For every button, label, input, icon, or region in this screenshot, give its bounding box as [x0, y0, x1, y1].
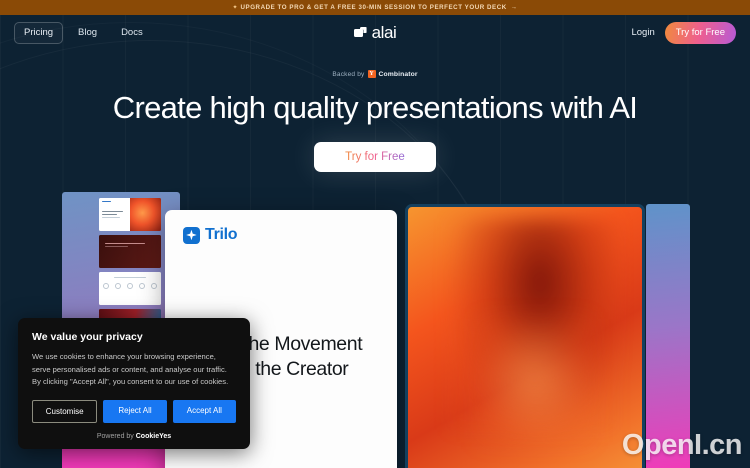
sparkle-icon: ✦ [232, 4, 237, 11]
cookie-button-row: Customise Reject All Accept All [32, 400, 236, 423]
thumbnail-dark-red-text[interactable] [99, 235, 161, 268]
hero-cta-label: Try for Free [345, 151, 405, 163]
page-title: Create high quality presentations with A… [0, 91, 750, 126]
cookie-dialog-title: We value your privacy [32, 331, 236, 343]
promo-banner[interactable]: ✦ UPGRADE TO PRO & GET A FREE 30-MIN SES… [0, 0, 750, 15]
ycombinator-label: Combinator [379, 71, 418, 78]
reject-all-button[interactable]: Reject All [103, 400, 166, 423]
cookie-dialog-body: We use cookies to enhance your browsing … [32, 351, 236, 389]
trilo-shield-star-icon [183, 227, 200, 244]
page-root: ✦ UPGRADE TO PRO & GET A FREE 30-MIN SES… [0, 0, 750, 468]
top-navbar: Pricing Blog Docs alai Login Try for Fre… [0, 15, 750, 50]
gradient-panel-left-bottom [62, 446, 180, 468]
cookie-powered-prefix: Powered by [97, 433, 134, 440]
trilo-brand: Trilo [183, 226, 379, 244]
nav-item-pricing[interactable]: Pricing [14, 22, 63, 44]
alai-logo-text: alai [372, 24, 397, 41]
arrow-right-icon: → [511, 4, 518, 11]
alai-logo[interactable]: alai [354, 24, 397, 41]
login-link[interactable]: Login [631, 27, 654, 38]
watermark: OpenI.cn [622, 429, 742, 462]
accept-all-button[interactable]: Accept All [173, 400, 236, 423]
nav-item-docs[interactable]: Docs [112, 23, 152, 43]
hero-try-for-free-button[interactable]: Try for Free [314, 142, 436, 172]
backed-by-badge: Backed by Y Combinator [0, 70, 750, 78]
cookieyes-brand: CookieYes [136, 433, 171, 440]
ycombinator-icon: Y [368, 70, 376, 78]
photo-slide-card[interactable] [405, 204, 645, 468]
cookie-consent-dialog: We value your privacy We use cookies to … [18, 318, 250, 449]
nav-try-for-free-button[interactable]: Try for Free [665, 22, 736, 44]
customise-button[interactable]: Customise [32, 400, 97, 423]
alai-logo-icon [354, 27, 367, 38]
hero-section: Backed by Y Combinator Create high quali… [0, 70, 750, 172]
backed-by-label: Backed by [332, 71, 364, 78]
promo-banner-text: UPGRADE TO PRO & GET A FREE 30-MIN SESSI… [241, 4, 507, 11]
hero-cta-wrapper: Try for Free [0, 142, 750, 172]
nav-item-blog[interactable]: Blog [69, 23, 106, 43]
cookie-powered-by: Powered by CookieYes [32, 433, 236, 440]
thumbnail-white-icons[interactable] [99, 272, 161, 305]
trilo-brand-label: Trilo [205, 226, 237, 244]
nav-left-group: Pricing Blog Docs [14, 22, 152, 44]
nav-right-group: Login Try for Free [631, 22, 736, 44]
thumbnail-title-photo[interactable] [99, 198, 161, 231]
